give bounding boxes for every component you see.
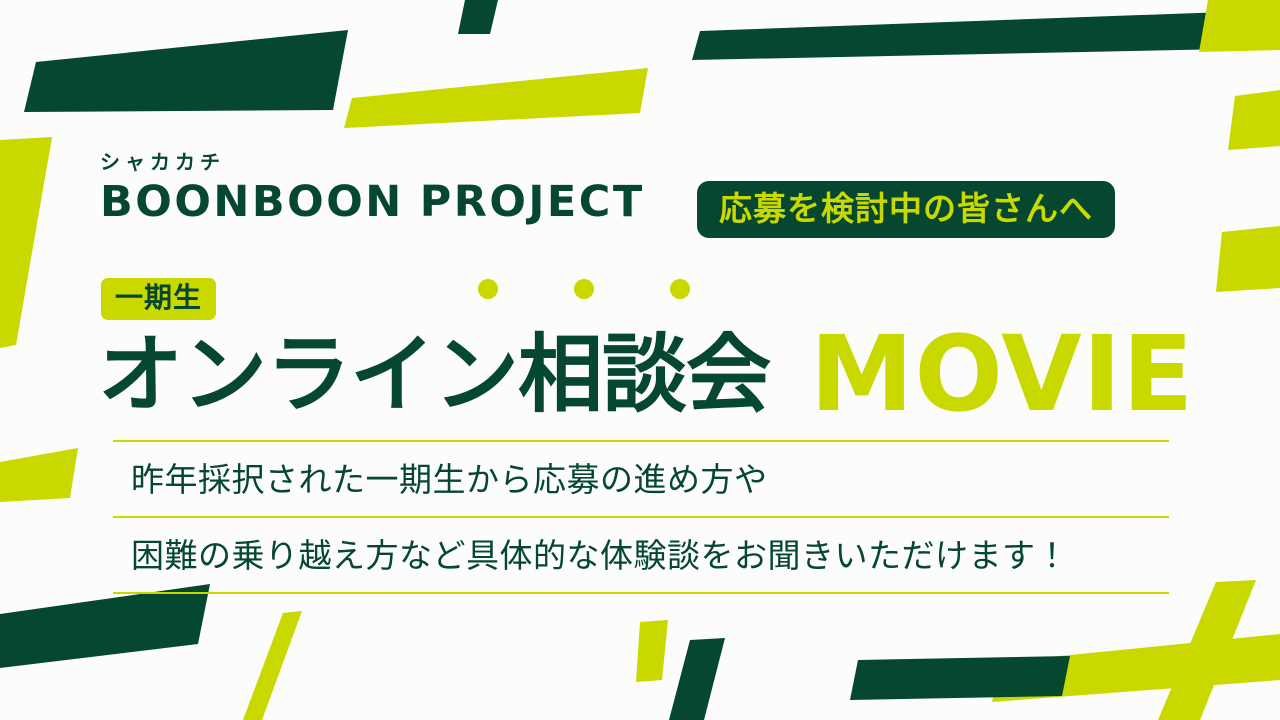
poster-canvas: シャカカチ BOONBOONPROJECT 応募を検討中の皆さんへ 一期生 オン… — [0, 0, 1280, 720]
brand-wordmark-part1: BOONBOON — [100, 177, 404, 227]
cohort-tag: 一期生 — [101, 278, 216, 320]
divider-rule-bottom — [113, 592, 1169, 594]
brand-wordmark: BOONBOONPROJECT — [100, 181, 645, 224]
headline-japanese: オンライン相談会 — [98, 333, 770, 418]
subtitle-line-2: 困難の乗り越え方など具体的な体験談をお聞きいただけます！ — [113, 518, 1169, 592]
poster-content: シャカカチ BOONBOONPROJECT 応募を検討中の皆さんへ 一期生 オン… — [0, 0, 1280, 720]
emphasis-dot-1 — [478, 279, 498, 299]
emphasis-dot-2 — [574, 279, 594, 299]
brand-logo: シャカカチ BOONBOONPROJECT — [100, 152, 645, 224]
brand-kana-reading: シャカカチ — [100, 152, 645, 172]
subtitle-block: 昨年採択された一期生から応募の進め方や 困難の乗り越え方など具体的な体験談をお聞… — [113, 440, 1169, 594]
audience-badge: 応募を検討中の皆さんへ — [697, 181, 1115, 238]
headline: オンライン相談会 MOVIE — [98, 316, 1194, 420]
brand-wordmark-part2: PROJECT — [420, 177, 645, 227]
headline-english: MOVIE — [810, 322, 1194, 426]
subtitle-line-1: 昨年採択された一期生から応募の進め方や — [113, 442, 1169, 516]
emphasis-dot-3 — [670, 279, 690, 299]
